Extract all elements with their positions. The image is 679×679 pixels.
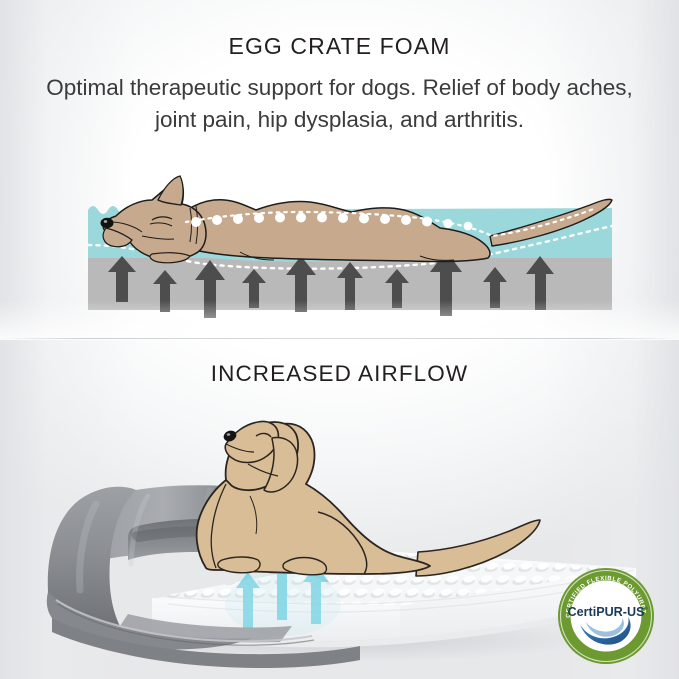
top-text-block: EGG CRATE FOAM Optimal therapeutic suppo… bbox=[0, 0, 679, 136]
section-divider-glow bbox=[0, 300, 679, 340]
section-one-subtitle: Optimal therapeutic support for dogs. Re… bbox=[0, 72, 679, 136]
section-one-title: EGG CRATE FOAM bbox=[0, 34, 679, 59]
dog-lying-on-bed bbox=[197, 421, 540, 576]
product-feature-image: EGG CRATE FOAM Optimal therapeutic suppo… bbox=[0, 0, 679, 679]
section-divider bbox=[0, 338, 679, 339]
badge-brand-text: CertiPUR-US bbox=[568, 605, 645, 619]
certipur-us-badge: CONTAINS CERTIFIED FLEXIBLE POLYURETHANE… bbox=[556, 566, 656, 666]
section-two-title: INCREASED AIRFLOW bbox=[0, 361, 679, 387]
